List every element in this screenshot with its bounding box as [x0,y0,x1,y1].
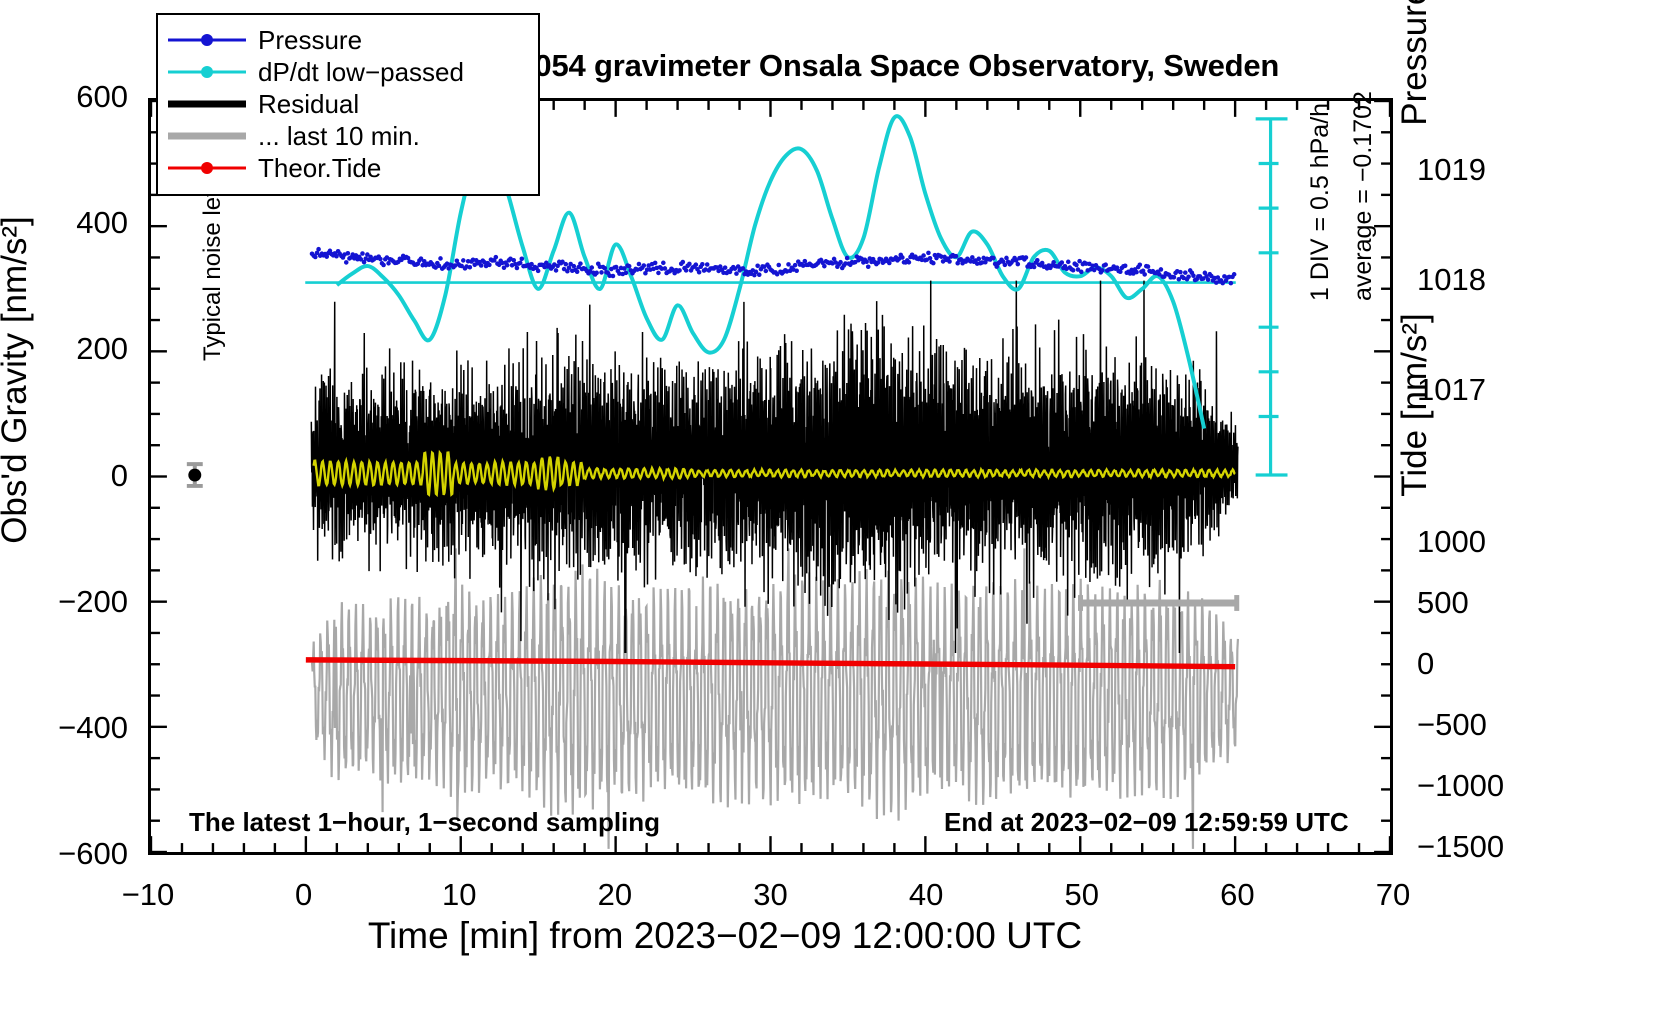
pressure-point [931,261,936,266]
pressure-point [991,256,996,261]
axis-tick-label: −500 [1417,707,1487,743]
pressure-point [776,263,781,268]
pressure-point [1206,277,1211,282]
pressure-point [786,262,791,267]
note-dpdt-average: average = −0.1702 [1349,91,1378,301]
pressure-point [313,255,318,260]
dpdt-scale-bar [1256,119,1288,475]
pressure-point [838,260,843,265]
pressure-point [1016,262,1021,267]
pressure-point [1142,272,1147,277]
plot-area: The latest 1−hour, 1−second sampling End… [148,98,1393,855]
pressure-point [653,261,658,266]
legend-marker-dot [201,162,213,174]
pressure-point [1146,264,1151,269]
pressure-point [1100,268,1105,273]
pressure-point [1186,275,1191,280]
y-axis-left-title: Obs'd Gravity [nm/s²] [0,30,35,730]
pressure-point [663,266,668,271]
pressure-point [564,262,569,267]
legend-label: Residual [258,89,359,120]
legend-marker-dot [201,66,213,78]
axis-tick-label: −1000 [1417,768,1504,804]
pressure-point [866,264,871,269]
note-latest-sampling: The latest 1−hour, 1−second sampling [189,807,660,838]
pressure-point [921,253,926,258]
pressure-point [700,262,705,267]
pressure-point [316,247,321,252]
axis-tick-label: 10 [399,877,519,913]
pressure-point [954,254,959,259]
axis-tick-label: 0 [1417,646,1434,682]
pressure-point [681,260,686,265]
pressure-point [1138,263,1143,268]
pressure-point [764,269,769,274]
pressure-point [656,271,661,276]
legend-label: Theor.Tide [258,153,381,184]
pressure-point [1191,273,1196,278]
pressure-point [1183,270,1188,275]
pressure-point [515,266,520,271]
legend-item-dpdt: dP/dt low−passed [168,56,528,88]
legend-item-tide: Theor.Tide [168,152,528,184]
pressure-point [1066,260,1071,265]
pressure-point [794,268,799,273]
note-end-timestamp: End at 2023−02−09 12:59:59 UTC [944,807,1349,838]
pressure-point [1071,268,1076,273]
y-axis-pressure-title: Pressure [hPa] [1395,0,1435,175]
pressure-point [642,263,647,268]
pressure-point [1172,275,1177,280]
pressure-point [793,263,798,268]
pressure-point [505,263,510,268]
series-container [151,101,1390,852]
pressure-point [1134,270,1139,275]
legend-item-last10: ... last 10 min. [168,120,528,152]
pressure-point [554,268,559,273]
legend-swatch-last10 [168,125,246,147]
pressure-point [518,261,523,266]
legend-label: ... last 10 min. [258,121,420,152]
pressure-point [461,258,466,263]
legend-marker-dot [201,34,213,46]
pressure-point [661,261,666,266]
y-axis-tide-title: Tide [nm/s²] [1395,255,1435,555]
pressure-point [360,251,365,256]
legend-item-pressure: Pressure [168,24,528,56]
pressure-point [677,268,682,273]
axis-tick-label: 500 [1417,585,1469,621]
pressure-point [575,269,580,274]
pressure-point [755,264,760,269]
axis-tick-label: 30 [711,877,831,913]
pressure-point [1024,255,1029,260]
pressure-point [627,264,632,269]
pressure-point [705,262,710,267]
pressure-point [511,258,516,263]
pressure-point [1232,272,1237,277]
axis-tick-label: 40 [866,877,986,913]
legend-swatch-tide [168,157,246,179]
note-scale-division: 1 DIV = 0.5 hPa/h [1306,103,1335,301]
pressure-point [907,260,912,265]
pressure-point [468,265,473,270]
pressure-point [694,262,699,267]
pressure-point [1159,267,1164,272]
pressure-point [1035,258,1040,263]
pressure-point [479,263,484,268]
pressure-point [947,259,952,264]
pressure-point [487,263,492,268]
pressure-point [734,271,739,276]
pressure-point [1229,281,1234,286]
axis-tick-label: 0 [244,877,364,913]
axis-tick-label: −1500 [1417,829,1504,865]
axis-tick-label: 60 [1177,877,1297,913]
pressure-point [687,262,692,267]
pressure-point [536,269,541,274]
legend-label: dP/dt low−passed [258,57,464,88]
axis-tick-label: 70 [1333,877,1453,913]
legend: Pressure dP/dt low−passed Residual ... l… [156,13,540,196]
pressure-point [344,260,349,265]
pressure-point [1074,263,1079,268]
pressure-point [381,263,386,268]
pressure-point [757,272,762,277]
pressure-point [594,271,599,276]
axis-tick-label: 50 [1022,877,1142,913]
pressure-point [926,251,931,256]
axis-tick-label: −10 [88,877,208,913]
noise-level-marker [187,464,203,486]
pressure-point [845,256,850,261]
pressure-point [599,270,604,275]
pressure-point [900,255,905,260]
series-last-10-min [312,548,1238,848]
pressure-point [494,255,499,260]
pressure-point [614,265,619,270]
legend-swatch-residual [168,93,246,115]
x-axis-title: Time [min] from 2023−02−09 12:00:00 UTC [0,915,1450,957]
axis-tick-label: 20 [555,877,675,913]
pressure-point [603,266,608,271]
pressure-point [520,256,525,261]
pressure-point [346,251,351,256]
legend-item-residual: Residual [168,88,528,120]
legend-swatch-pressure [168,29,246,51]
pressure-point [822,264,827,269]
pressure-point [1178,270,1183,275]
pressure-point [723,265,728,270]
legend-label: Pressure [258,25,362,56]
legend-swatch-dpdt [168,61,246,83]
pressure-point [977,257,982,262]
pressure-point [1032,265,1037,270]
pressure-point [378,257,383,262]
pressure-point [637,262,642,267]
pressure-point [386,261,391,266]
pressure-point [1103,262,1108,267]
pressure-point [624,271,629,276]
axis-tick-label: −600 [8,836,128,872]
pressure-point [684,268,689,273]
pressure-point [887,261,892,266]
pressure-point [697,270,702,275]
pressure-point [589,265,594,270]
pressure-point [578,261,583,266]
pressure-point [611,274,616,279]
pressure-point [1079,270,1084,275]
pressure-point [1123,264,1128,269]
pressure-point [438,256,443,261]
pressure-point [1060,260,1065,265]
